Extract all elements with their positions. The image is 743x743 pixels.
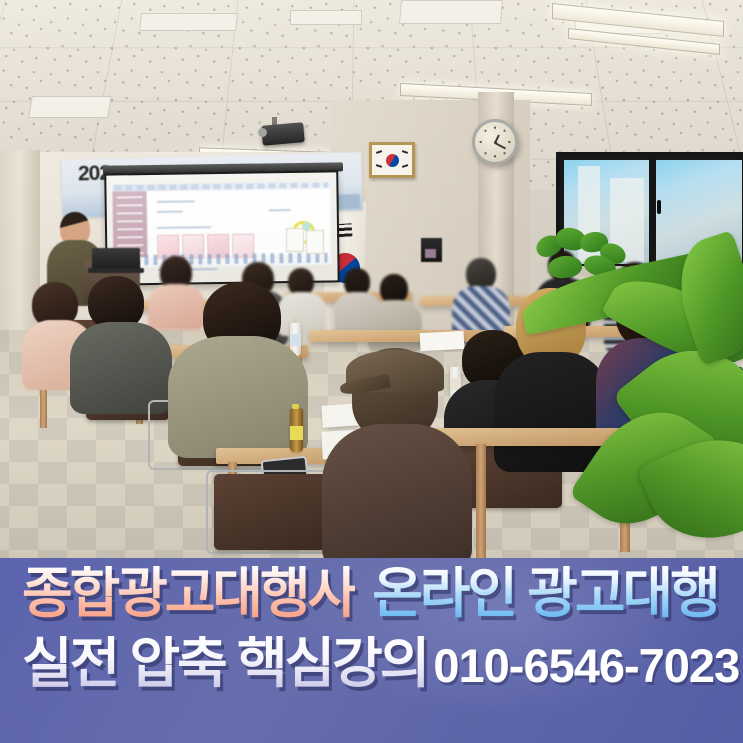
handout-paper	[420, 331, 465, 351]
banner-line-2: 실전 압축 핵심강의 010-6546-7023	[22, 636, 739, 691]
screenshot-root: 202 화교육	[0, 0, 743, 743]
clock-ticks	[478, 125, 512, 159]
banner-headline-primary: 종합광고대행사	[22, 566, 355, 621]
wall-paper	[286, 228, 304, 252]
laptop-base	[88, 268, 144, 273]
bottle-cap	[292, 404, 299, 409]
clock-hub	[494, 141, 497, 144]
trigram	[376, 164, 382, 167]
ceiling-panel	[290, 10, 362, 25]
framed-korean-flag	[369, 142, 415, 178]
slide-text-line	[157, 200, 195, 203]
trigram	[376, 150, 382, 153]
slide-text-line	[157, 211, 183, 213]
banner-headline-secondary: 온라인 광고대행	[372, 566, 717, 621]
window-handle	[657, 200, 661, 214]
window-mullion	[649, 158, 656, 268]
slide-text-line	[157, 226, 211, 229]
bottle-label	[290, 426, 303, 440]
slide-sidebar-rows	[117, 194, 144, 254]
wall-pillar	[0, 150, 40, 350]
slide-text-line	[269, 209, 291, 211]
slide-taskbar	[117, 253, 327, 266]
ceiling-panel	[399, 0, 503, 24]
laptop	[92, 248, 140, 270]
bottle-cap	[292, 318, 299, 323]
bottle-label	[290, 334, 301, 346]
trigram	[402, 164, 408, 167]
contact-phone-number[interactable]: 010-6546-7023	[433, 642, 739, 689]
wall-paper	[306, 230, 324, 254]
banner-line-1: 종합광고대행사 온라인 광고대행	[22, 566, 718, 621]
projected-slide	[112, 181, 331, 267]
banner-subheadline: 실전 압축 핵심강의	[22, 636, 427, 691]
taeguk-circle	[386, 154, 399, 167]
water-bottle	[290, 408, 303, 452]
ceiling-projector	[261, 122, 305, 146]
chair	[214, 474, 326, 550]
wall-clock	[472, 119, 518, 165]
ceiling-panel	[28, 96, 111, 118]
classroom-photo: 202 화교육	[0, 0, 743, 565]
promo-banner: 종합광고대행사 온라인 광고대행 실전 압축 핵심강의 010-6546-702…	[0, 558, 743, 743]
slide-tabs	[114, 183, 328, 191]
wall-device	[421, 238, 442, 262]
ceiling-panel	[139, 13, 238, 31]
desk-leg	[476, 444, 486, 560]
projector-lens	[258, 128, 267, 137]
trigram	[402, 150, 408, 153]
bottle-cap	[452, 362, 459, 367]
